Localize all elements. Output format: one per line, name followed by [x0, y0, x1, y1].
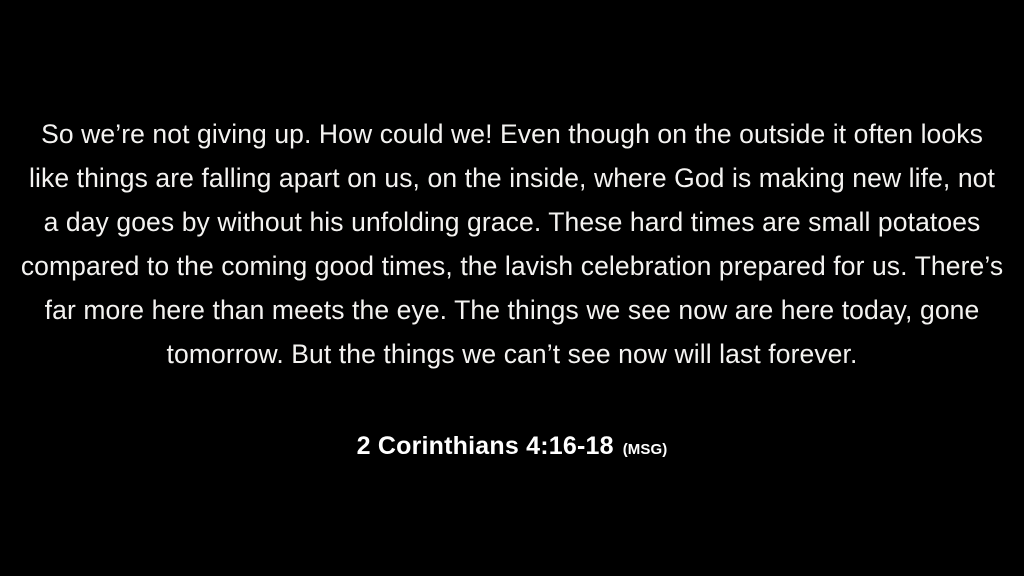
slide-content: So we’re not giving up. How could we! Ev… [0, 0, 1024, 576]
citation-version: (MSG) [623, 442, 668, 457]
scripture-slide: So we’re not giving up. How could we! Ev… [0, 0, 1024, 576]
citation: 2 Corinthians 4:16-18 (MSG) [357, 434, 668, 459]
citation-reference: 2 Corinthians 4:16-18 [357, 434, 614, 459]
verse-text: So we’re not giving up. How could we! Ev… [18, 112, 1006, 376]
